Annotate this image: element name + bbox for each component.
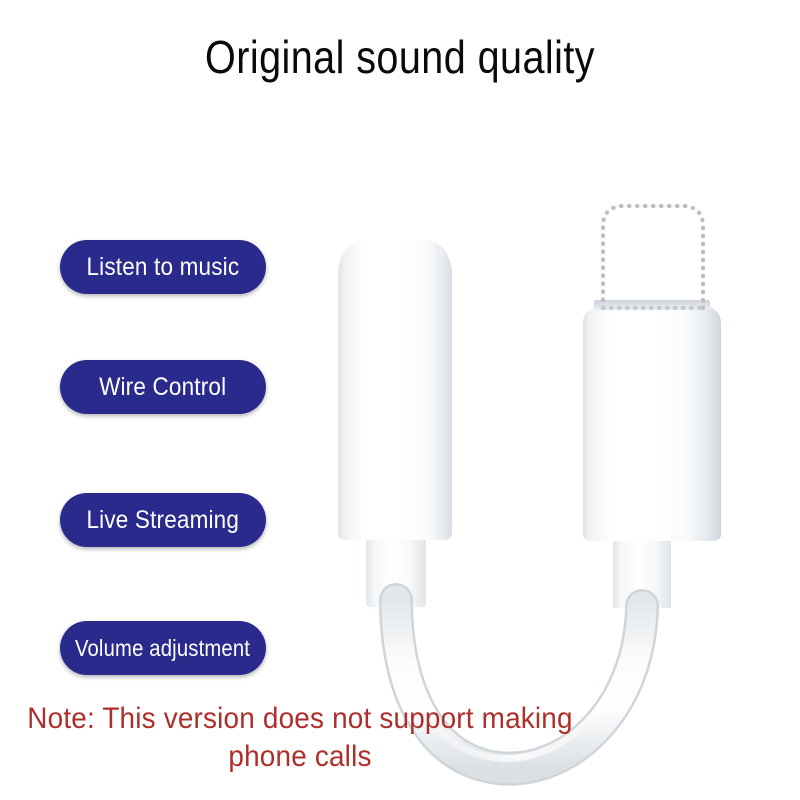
adapter-cable — [0, 0, 800, 800]
disclaimer-note: Note: This version does not support maki… — [21, 700, 579, 776]
product-illustration — [0, 0, 800, 800]
disclaimer-note-line-1: Note: This version does not support maki… — [21, 700, 579, 738]
disclaimer-note-line-2: phone calls — [21, 738, 579, 776]
product-image: Original sound quality — [0, 0, 800, 800]
